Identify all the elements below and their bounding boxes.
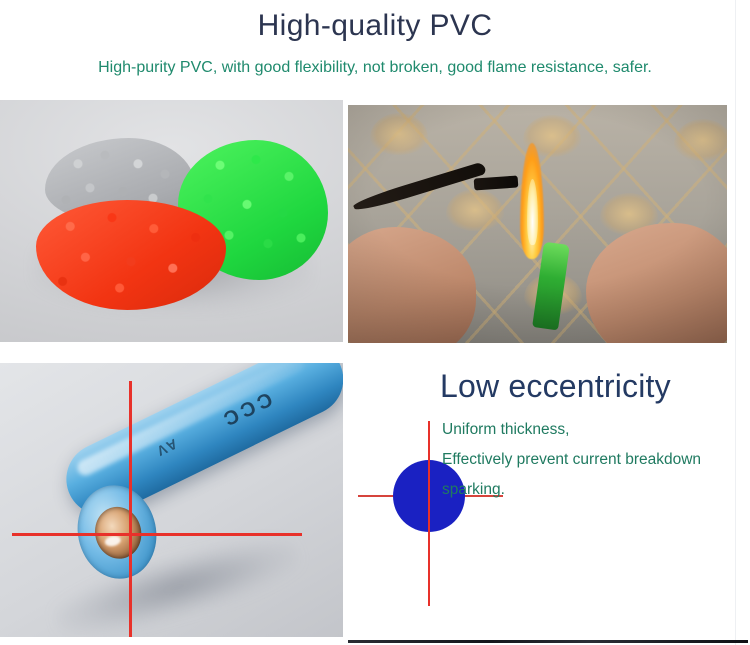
body-line-2: Effectively prevent current breakdown: [442, 445, 735, 475]
cable-cross-section-photo: CCC AV: [0, 363, 343, 637]
photo-vignette: [348, 105, 727, 343]
body-line-1: Uniform thickness,: [442, 415, 735, 445]
pvc-pellets-photo: [0, 100, 343, 342]
bottom-divider: [348, 640, 748, 643]
low-eccentricity-section: Low eccentricity Uniform thickness, Effe…: [348, 363, 735, 637]
flame-image-content: [348, 105, 727, 343]
page-right-rule: [735, 0, 736, 645]
conductor-glint: [104, 535, 122, 548]
low-eccentricity-heading: Low eccentricity: [440, 365, 671, 407]
body-line-3: sparking.: [442, 475, 735, 505]
cable-image-content: CCC AV: [0, 363, 343, 637]
flame-test-photo: [348, 105, 727, 343]
page-subtitle: High-purity PVC, with good flexibility, …: [0, 57, 750, 79]
pellets-image-content: [0, 100, 343, 342]
crosshair-vertical-icon: [129, 381, 132, 637]
crosshair-horizontal-icon: [12, 533, 302, 536]
low-eccentricity-body: Uniform thickness, Effectively prevent c…: [442, 415, 735, 505]
page-title: High-quality PVC: [0, 6, 750, 46]
pvc-feature-page: High-quality PVC High-purity PVC, with g…: [0, 0, 750, 645]
diagram-crosshair-vertical-icon: [428, 421, 430, 606]
